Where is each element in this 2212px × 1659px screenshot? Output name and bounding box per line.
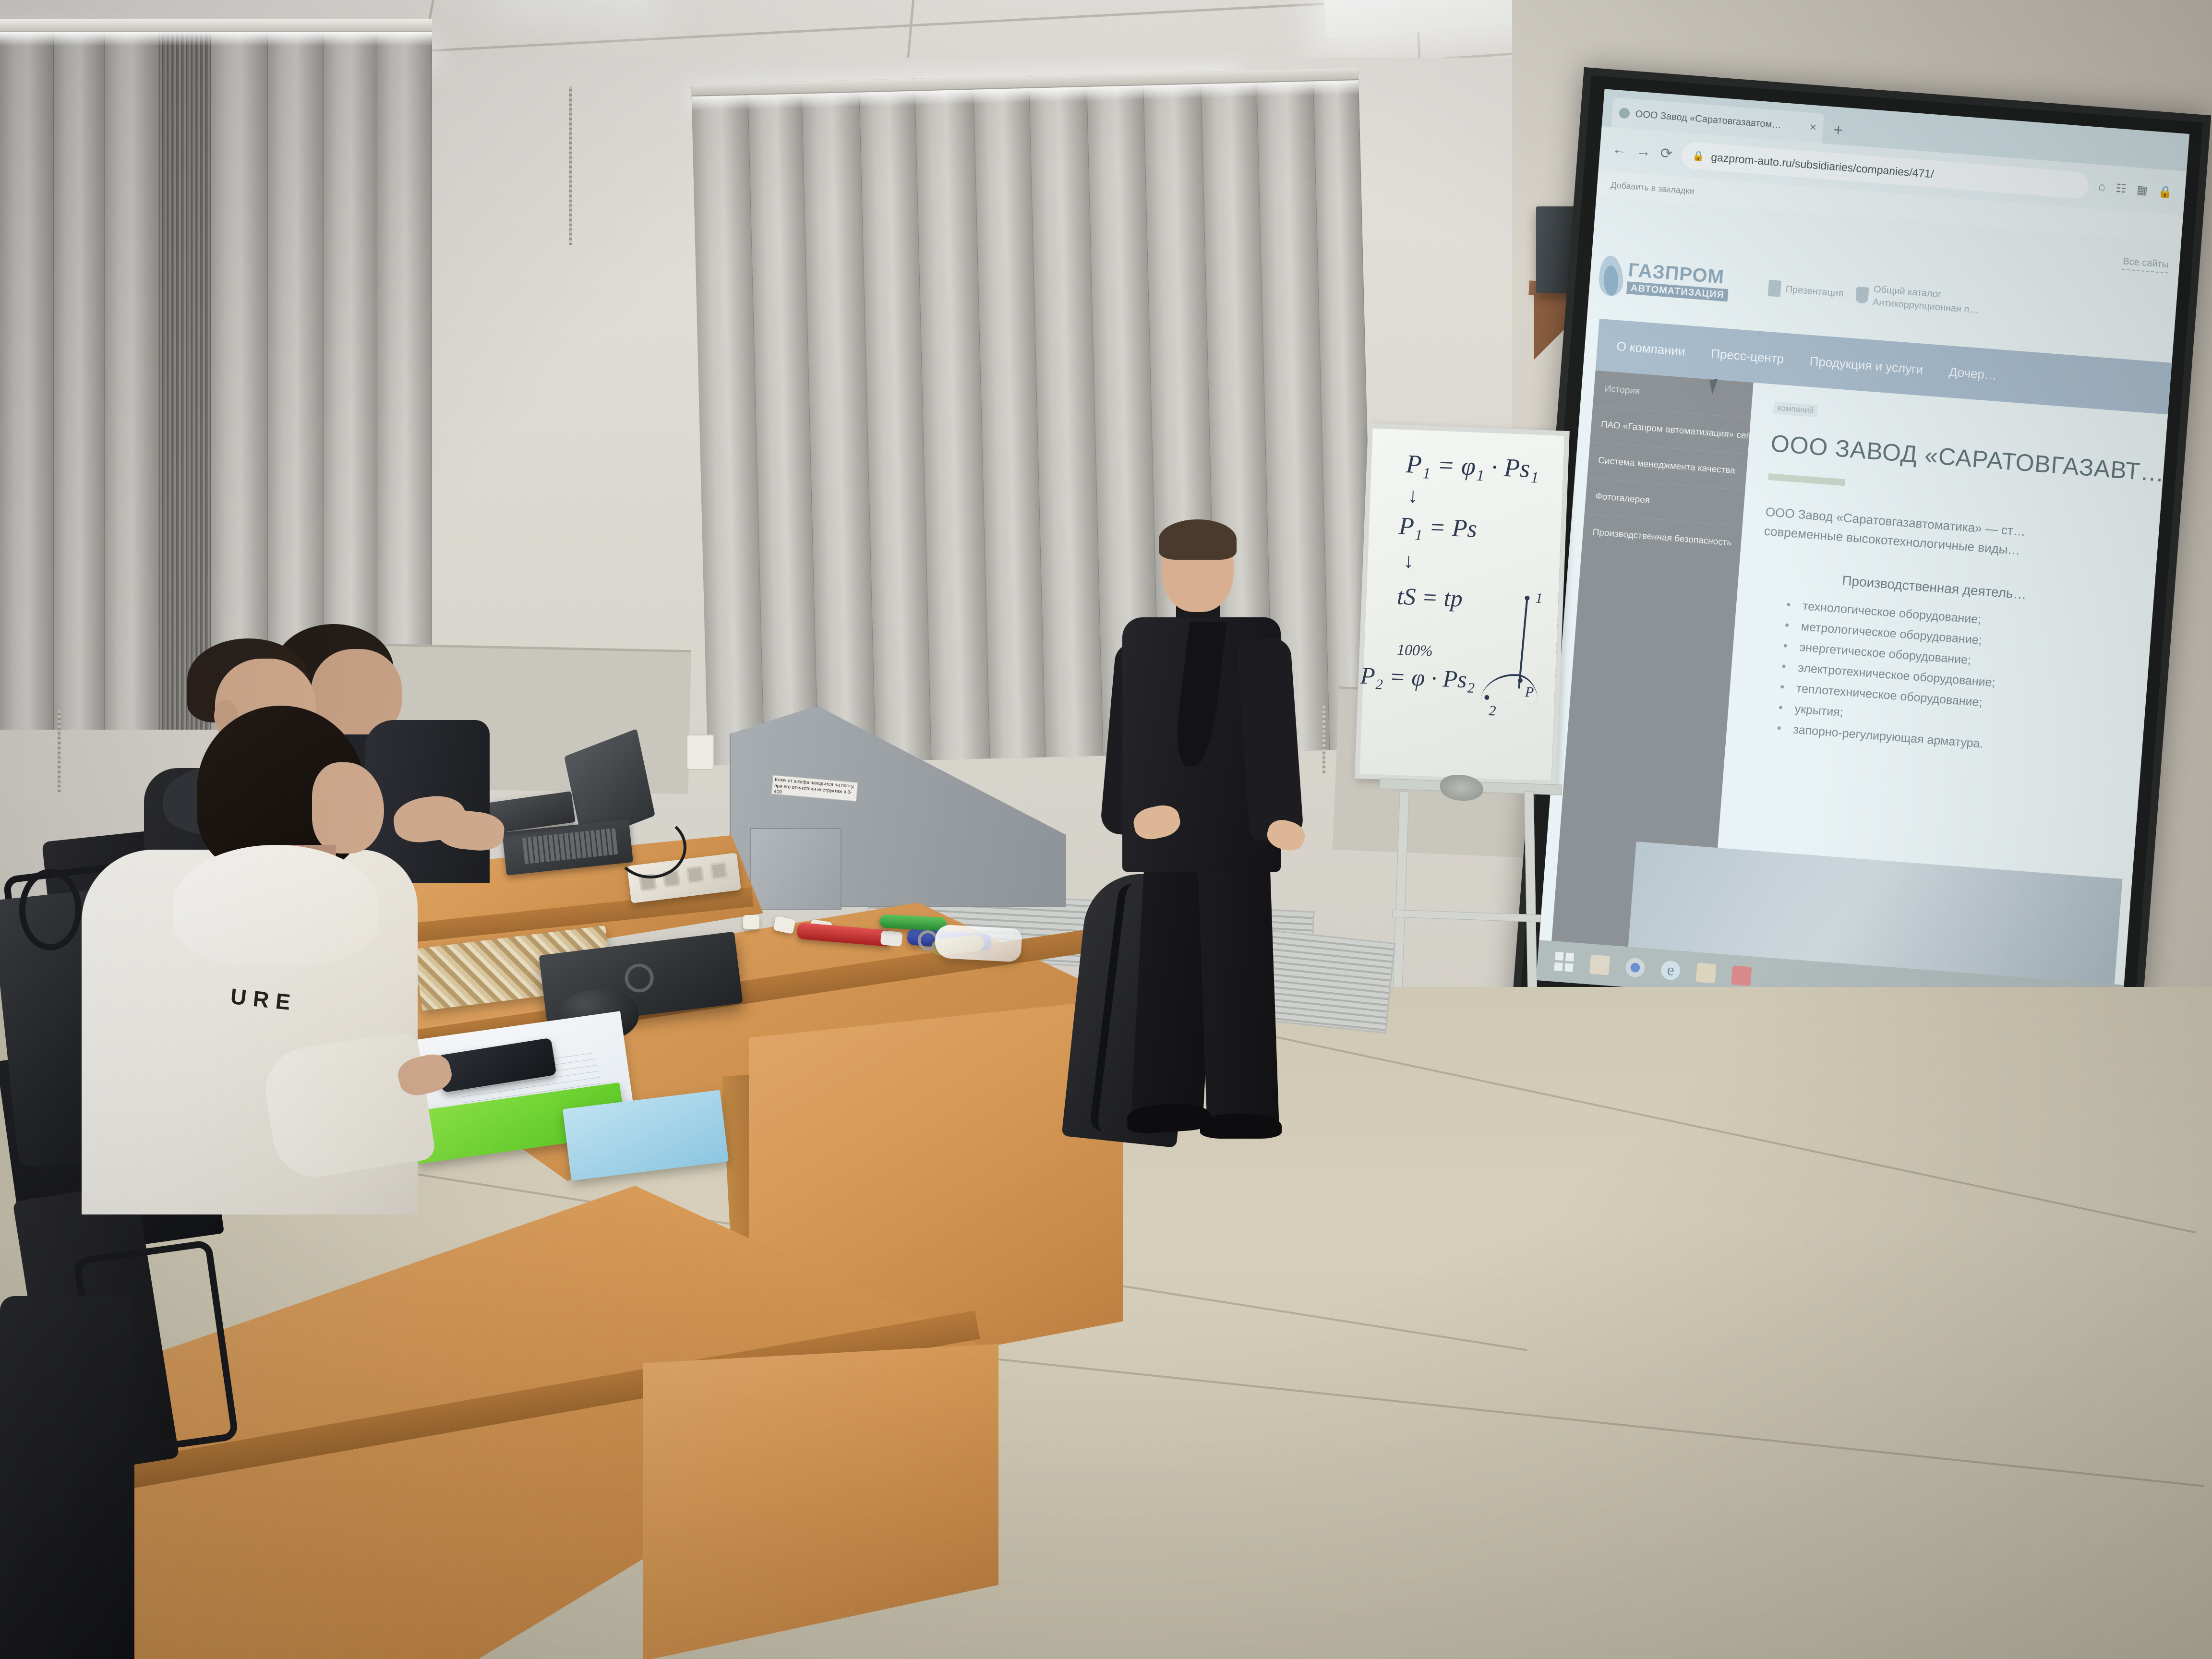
arrow-down-icon-1: ↓: [1407, 483, 1419, 508]
production-list: технологическое оборудование; метрологич…: [1748, 592, 2138, 766]
mouse-cursor-icon: [1709, 378, 1725, 395]
student-front-white-hoodie: URE: [110, 706, 418, 1214]
site-main: компаний ООО ЗАВОД «САРАТОВГАЗАВТ… ООО З…: [1709, 383, 2168, 985]
presentation-label: Презентация: [1785, 284, 1844, 299]
lock-icon-ext[interactable]: 🔒: [2158, 184, 2173, 199]
diagram-label-2: 2: [1489, 703, 1496, 720]
right-leg: [1198, 858, 1279, 1130]
all-sites-link[interactable]: Все сайты: [2122, 256, 2169, 273]
equation-1: P₁ = φ₁ · Ps₁: [1406, 449, 1539, 484]
bag-strap-icon: [19, 869, 82, 950]
url-text: gazprom-auto.ru/subsidiaries/companies/4…: [1710, 150, 1934, 180]
percent-annotation: 100%: [1396, 641, 1433, 660]
cabinet-door[interactable]: [750, 828, 842, 910]
equation-3: tS = tp: [1396, 582, 1463, 613]
power-cable: [614, 816, 686, 878]
laptop-logo: [623, 962, 655, 994]
site-body: История ПАО «Газпром автоматизация» сего…: [1551, 371, 2168, 985]
flame-icon: [1599, 255, 1623, 296]
file-explorer-icon[interactable]: [1589, 955, 1610, 975]
plastic-bag[interactable]: [934, 924, 1022, 962]
window-blinds-left: [0, 19, 432, 730]
ceiling-light-panel-2: [503, 0, 649, 17]
arrow-down-icon-2: ↓: [1403, 549, 1414, 573]
card-icon[interactable]: ▦: [2136, 183, 2148, 198]
reload-icon[interactable]: ⟳: [1659, 144, 1673, 162]
gazprom-logo[interactable]: ГАЗПРОМ АВТОМАТИЗАЦИЯ: [1598, 255, 1758, 307]
new-tab-icon[interactable]: +: [1833, 120, 1844, 140]
phase-diagram: 1 P 2: [1473, 591, 1550, 733]
projected-desktop: ООО Завод «Саратовгазавтом… × + ← → ⟳ 🔒 …: [1536, 89, 2189, 1025]
home-icon[interactable]: ⌂: [2098, 180, 2106, 194]
nav-subsidiaries[interactable]: Дочер…: [1948, 364, 1997, 383]
equation-4: P₂ = φ · Ps₂: [1360, 661, 1476, 694]
lock-icon: 🔒: [1692, 149, 1705, 162]
red-marker-cap: [880, 930, 902, 947]
diagram-point-1: [1525, 596, 1529, 601]
presentation-link[interactable]: Презентация: [1768, 280, 1844, 302]
web-page: Все сайты ГАЗПРОМ АВТОМАТИЗАЦИЯ: [1539, 197, 2181, 985]
nav-press[interactable]: Пресс-центр: [1710, 346, 1784, 367]
whiteboard: P₁ = φ₁ · Ps₁ ↓ P₁ = Ps ↓ tS = tp 100% P…: [1355, 423, 1570, 786]
face: [312, 762, 384, 854]
chrome-icon[interactable]: [1625, 957, 1646, 978]
nav-about[interactable]: О компании: [1616, 338, 1685, 359]
favicon: [1619, 108, 1630, 119]
blind-cord[interactable]: [58, 710, 60, 792]
right-shoe: [1200, 1114, 1282, 1139]
whiteboard-surface: P₁ = φ₁ · Ps₁ ↓ P₁ = Ps ↓ tS = tp 100% P…: [1355, 423, 1570, 786]
shield-icon: [1855, 287, 1869, 304]
stand-crossbar: [1392, 910, 1541, 923]
sitemap-icon[interactable]: ☷: [2116, 181, 2127, 196]
hair: [1159, 519, 1237, 560]
diagram-label-p: P: [1525, 684, 1534, 701]
blind-cord-3[interactable]: [1322, 706, 1325, 773]
bookmark-hint[interactable]: Добавить в закладки: [1611, 180, 1695, 196]
blind-cord-2[interactable]: [569, 86, 572, 245]
chair-leg-cluster: [0, 1296, 134, 1659]
presenter: [1109, 523, 1310, 1128]
back-icon[interactable]: ←: [1612, 141, 1628, 158]
projection-screen: ООО Завод «Саратовгазавтом… × + ← → ⟳ 🔒 …: [1508, 67, 2211, 1101]
equation-2: P₁ = Ps: [1398, 512, 1478, 543]
tab-title: ООО Завод «Саратовгазавтом…: [1635, 108, 1804, 132]
accent-rule: [1768, 473, 1845, 486]
store-icon[interactable]: [1696, 963, 1717, 984]
ceiling-light-panel: [1323, 0, 1528, 38]
site-top-links: Презентация Общий каталог Антикоррупцион…: [1756, 275, 2167, 331]
whiteboard-eraser-rag[interactable]: [1440, 775, 1483, 801]
diagram-label-1: 1: [1535, 590, 1543, 607]
extension-icons: ⌂ ☷ ▦ 🔒: [2098, 180, 2173, 199]
pdf-icon[interactable]: [1731, 965, 1752, 986]
forward-icon[interactable]: →: [1636, 143, 1652, 160]
presentation-icon: [1768, 280, 1782, 297]
hood: [173, 845, 379, 965]
nav-products[interactable]: Продукция и услуги: [1809, 353, 1924, 377]
projection-screen-frame: ООО Завод «Саратовгазавтом… × + ← → ⟳ 🔒 …: [1508, 67, 2211, 1101]
classroom-scene: ООО Завод «Саратовгазавтом… × + ← → ⟳ 🔒 …: [0, 0, 2212, 1659]
edge-icon[interactable]: e: [1660, 960, 1681, 981]
close-tab-icon[interactable]: ×: [1809, 120, 1817, 134]
marker-cap-1[interactable]: [743, 915, 759, 929]
catalog-link-group[interactable]: Общий каталог Антикоррупционная п…: [1855, 283, 1980, 316]
light-switch[interactable]: [686, 734, 714, 770]
breadcrumb[interactable]: компаний: [1773, 401, 1818, 417]
